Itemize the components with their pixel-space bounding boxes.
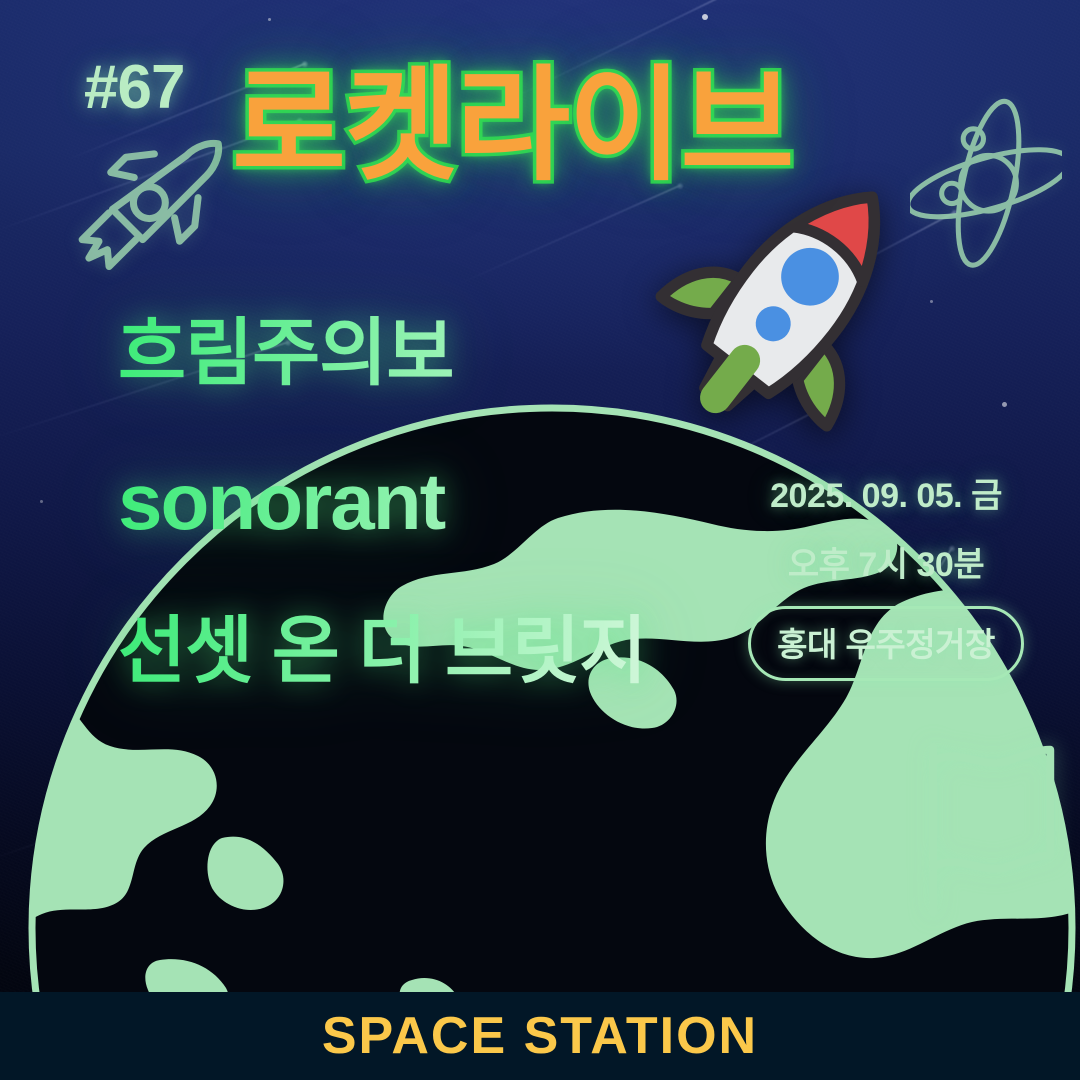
atom-orbit-icon xyxy=(910,84,1062,280)
poster-canvas: #67 로켓라이브 흐림주의보 sonorant 선셋 온 더 브릿지 2025… xyxy=(0,0,1080,1080)
event-time: 오후 7시 30분 xyxy=(736,537,1036,586)
rocket-outline-icon xyxy=(62,122,230,290)
episode-number: #67 xyxy=(84,52,184,123)
shooting-star xyxy=(0,764,264,864)
page-title: 로켓라이브 xyxy=(232,64,792,188)
star xyxy=(930,300,933,303)
list-item: 선셋 온 더 브릿지 xyxy=(118,614,758,688)
star xyxy=(40,500,43,503)
shooting-star xyxy=(452,184,681,288)
flag-icon xyxy=(888,724,1064,924)
footer-label: SPACE STATION xyxy=(322,1006,758,1066)
star xyxy=(1002,402,1007,407)
star xyxy=(702,14,708,20)
event-date: 2025. 09. 05. 금 xyxy=(736,468,1036,517)
list-item: sonorant xyxy=(118,462,758,542)
event-info: 2025. 09. 05. 금 오후 7시 30분 홍대 우주정거장 xyxy=(736,468,1036,681)
list-item: 흐림주의보 xyxy=(118,316,758,390)
star xyxy=(160,726,163,729)
venue-badge: 홍대 우주정거장 xyxy=(748,606,1024,681)
lineup-list: 흐림주의보 sonorant 선셋 온 더 브릿지 xyxy=(118,316,758,688)
star xyxy=(268,18,271,21)
footer-bar: SPACE STATION xyxy=(0,992,1080,1080)
star xyxy=(612,742,615,745)
